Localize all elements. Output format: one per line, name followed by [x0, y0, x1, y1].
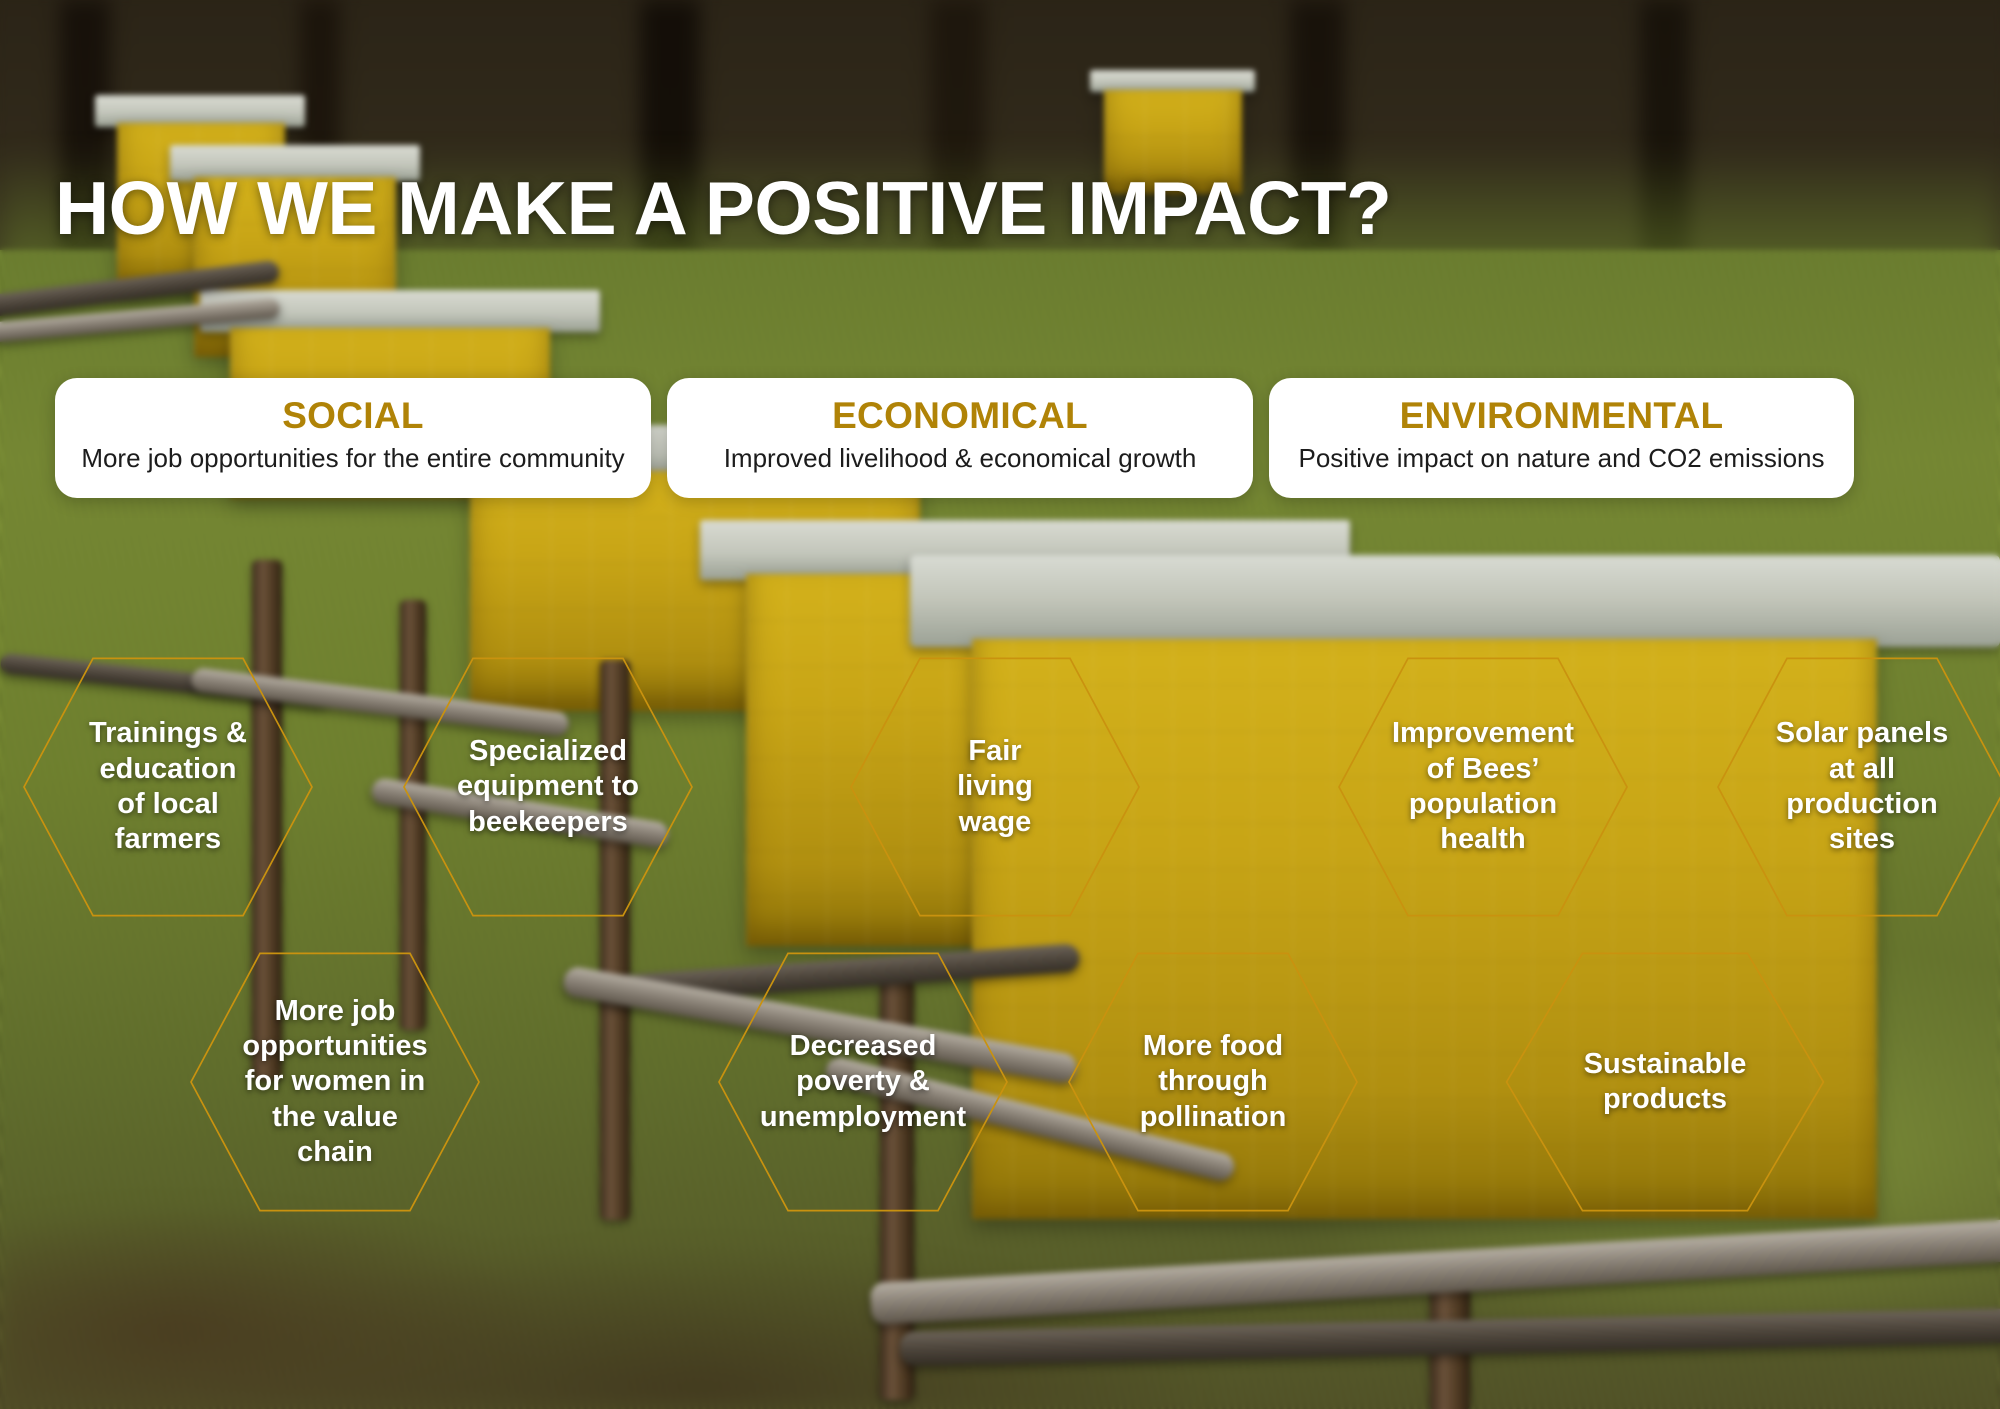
hexagon-label: Specialized equipment to beekeepers	[451, 734, 645, 840]
hexagon-fair-living-wage[interactable]: Fair living wage	[845, 653, 1145, 921]
hexagon-trainings-education[interactable]: Trainings & education of local farmers	[18, 653, 318, 921]
hexagon-label: More food through pollination	[1134, 1029, 1293, 1135]
hexagon-more-food-pollination[interactable]: More food through pollination	[1063, 948, 1363, 1216]
hexagon-label: Solar panels at all production sites	[1770, 716, 1954, 858]
hexagon-grid: Trainings & education of local farmers S…	[0, 0, 2000, 1409]
infographic-poster: HOW WE MAKE A POSITIVE IMPACT? SOCIAL Mo…	[0, 0, 2000, 1409]
hexagon-sustainable-products[interactable]: Sustainable products	[1500, 948, 1830, 1216]
hexagon-label: Trainings & education of local farmers	[83, 716, 253, 858]
hexagon-label: Sustainable products	[1578, 1047, 1753, 1118]
hexagon-label: More job opportunities for women in the …	[236, 994, 433, 1171]
hexagon-bees-population-health[interactable]: Improvement of Bees’ population health	[1333, 653, 1633, 921]
hexagon-job-opportunities-women[interactable]: More job opportunities for women in the …	[185, 948, 485, 1216]
hexagon-label: Fair living wage	[951, 734, 1039, 840]
hexagon-label: Decreased poverty & unemployment	[754, 1029, 972, 1135]
hexagon-label: Improvement of Bees’ population health	[1386, 716, 1580, 858]
hexagon-solar-panels[interactable]: Solar panels at all production sites	[1712, 653, 2000, 921]
hexagon-specialized-equipment[interactable]: Specialized equipment to beekeepers	[398, 653, 698, 921]
hexagon-decreased-poverty[interactable]: Decreased poverty & unemployment	[713, 948, 1013, 1216]
